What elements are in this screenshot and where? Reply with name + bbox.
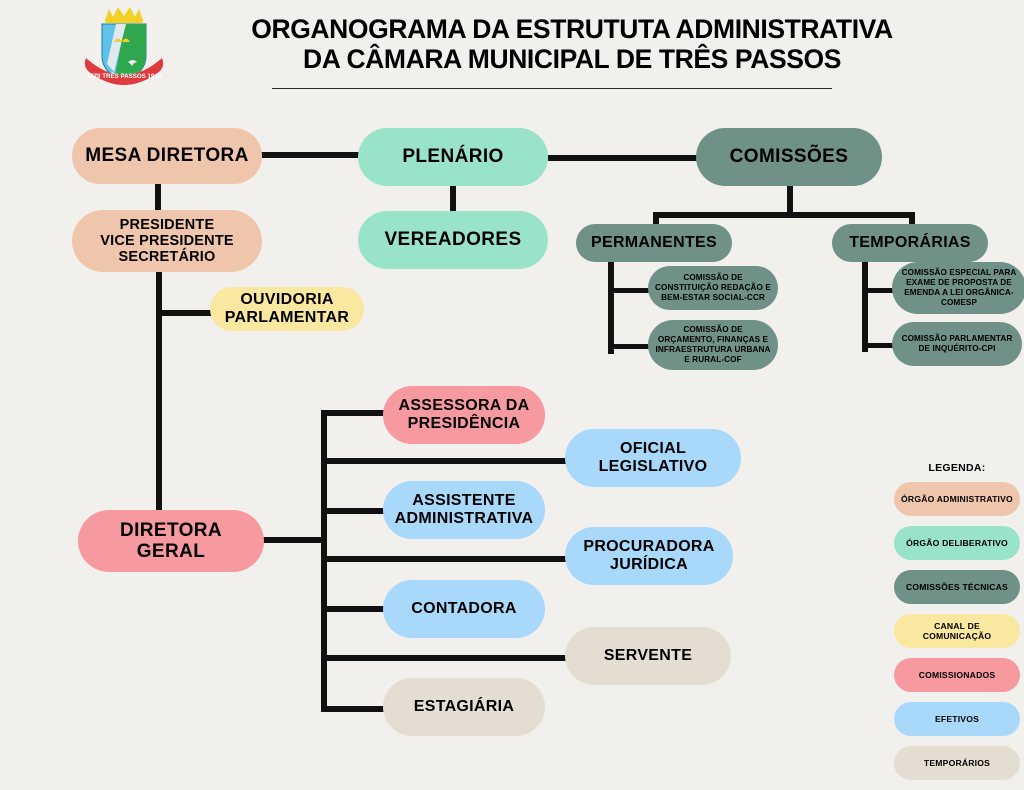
node-mesa-diretora[interactable]: MESA DIRETORA	[72, 128, 262, 184]
node-comissao-ccr[interactable]: COMISSÃO DE CONSTITUIÇÃO REDAÇÃO E BEM-E…	[648, 266, 778, 310]
title-line-1: ORGANOGRAMA DA ESTRUTUTA ADMINISTRATIVA	[172, 14, 972, 44]
connector-staff-contadora	[321, 606, 387, 612]
presidencia-line-3: SECRETÁRIO	[118, 249, 215, 265]
connector-staff-estagiaria	[321, 706, 387, 712]
header: 1879 TRÊS PASSOS 1944 ORGANOGRAMA DA EST…	[0, 0, 1024, 100]
node-diretora-geral[interactable]: DIRETORA GERAL	[78, 510, 264, 572]
legend-title: LEGENDA:	[890, 462, 1024, 474]
crest-ribbon-text: 1879 TRÊS PASSOS 1944	[87, 72, 162, 80]
legend-item-4[interactable]: COMISSIONADOS	[894, 658, 1020, 692]
presidencia-line-2: VICE PRESIDENTE	[100, 233, 234, 249]
node-assessora-presidencia[interactable]: ASSESSORA DA PRESIDÊNCIA	[383, 386, 545, 444]
legend-item-3[interactable]: CANAL DE COMUNICAÇÃO	[894, 614, 1020, 648]
node-comissoes[interactable]: COMISSÕES	[696, 128, 882, 186]
connector-mesa-presidencia	[155, 182, 161, 210]
page-title: ORGANOGRAMA DA ESTRUTUTA ADMINISTRATIVA …	[172, 14, 972, 74]
node-estagiaria[interactable]: ESTAGIÁRIA	[383, 678, 545, 736]
connector-permanentes-cof	[608, 344, 650, 349]
connector-ouvidoria	[156, 310, 216, 316]
brasao-tres-passos-icon: 1879 TRÊS PASSOS 1944	[76, 2, 172, 94]
node-procuradora-juridica[interactable]: PROCURADORA JURÍDICA	[565, 527, 733, 585]
connector-plenario-comissoes	[548, 155, 700, 161]
node-oficial-legislativo[interactable]: OFICIAL LEGISLATIVO	[565, 429, 741, 487]
connector-staff-assistente	[321, 508, 387, 514]
connector-staff-servente	[321, 655, 566, 661]
title-underline	[272, 88, 832, 89]
node-contadora[interactable]: CONTADORA	[383, 580, 545, 638]
node-comissao-comesp[interactable]: COMISSÃO ESPECIAL PARA EXAME DE PROPOSTA…	[892, 262, 1024, 314]
connector-staff-procuradora	[321, 556, 566, 562]
node-temporarias[interactable]: TEMPORÁRIAS	[832, 224, 988, 262]
title-line-2: DA CÂMARA MUNICIPAL DE TRÊS PASSOS	[172, 44, 972, 74]
connector-permanentes-ccr	[608, 288, 650, 293]
node-comissao-cof[interactable]: COMISSÃO DE ORÇAMENTO, FINANÇAS E INFRAE…	[648, 320, 778, 370]
legend-item-5[interactable]: EFETIVOS	[894, 702, 1020, 736]
organogram-canvas: 1879 TRÊS PASSOS 1944 ORGANOGRAMA DA EST…	[0, 0, 1024, 768]
node-presidencia[interactable]: PRESIDENTE VICE PRESIDENTE SECRETÁRIO	[72, 210, 262, 272]
legend-item-0[interactable]: ÓRGÃO ADMINISTRATIVO	[894, 482, 1020, 516]
connector-diretora-out	[263, 537, 327, 543]
connector-staff-oficial	[321, 458, 569, 464]
legend: LEGENDA: ÓRGÃO ADMINISTRATIVOÓRGÃO DELIB…	[890, 462, 1024, 790]
presidencia-line-1: PRESIDENTE	[120, 217, 215, 233]
connector-mesa-plenario	[258, 152, 368, 158]
legend-item-6[interactable]: TEMPORÁRIOS	[894, 746, 1020, 780]
node-permanentes[interactable]: PERMANENTES	[576, 224, 732, 262]
legend-item-1[interactable]: ÓRGÃO DELIBERATIVO	[894, 526, 1020, 560]
node-ouvidoria-parlamentar[interactable]: OUVIDORIA PARLAMENTAR	[210, 287, 364, 331]
connector-temporarias-trunk	[862, 262, 868, 352]
legend-item-2[interactable]: COMISSÕES TÉCNICAS	[894, 570, 1020, 604]
connector-plenario-vereadores	[450, 184, 456, 211]
legend-list: ÓRGÃO ADMINISTRATIVOÓRGÃO DELIBERATIVOCO…	[890, 482, 1024, 780]
connector-comissoes-stem	[787, 186, 793, 215]
connector-comissoes-bar	[653, 212, 915, 218]
connector-staff-assessora	[321, 410, 387, 416]
connector-permanentes-trunk	[608, 262, 614, 354]
node-servente[interactable]: SERVENTE	[565, 627, 731, 685]
node-comissao-cpi[interactable]: COMISSÃO PARLAMENTAR DE INQUÉRITO-CPI	[892, 322, 1022, 366]
node-vereadores[interactable]: VEREADORES	[358, 211, 548, 269]
node-assistente-administrativa[interactable]: ASSISTENTE ADMINISTRATIVA	[383, 481, 545, 539]
node-plenario[interactable]: PLENÁRIO	[358, 128, 548, 186]
